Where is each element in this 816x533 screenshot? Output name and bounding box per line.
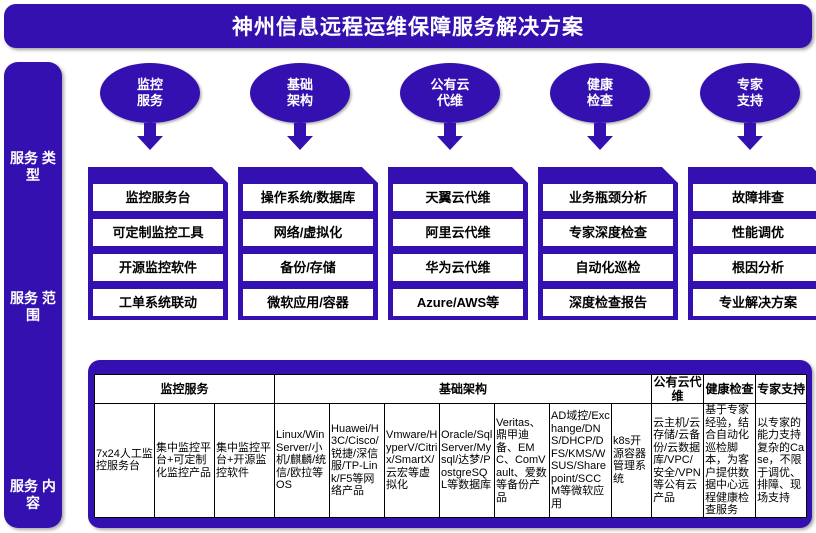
sidebar-item-service-scope: 服务 范围 bbox=[4, 290, 62, 324]
table-cell: 以专家的能力支持复杂的Case，不限于调优、排障、现场支持 bbox=[756, 404, 807, 518]
table-cell: Linux/WinServer/小机/麒麟/统信/欧拉等OS bbox=[275, 404, 330, 518]
arrow-down-icon bbox=[287, 123, 313, 151]
folded-corner-icon bbox=[362, 167, 378, 183]
scope-card-infrastructure: 操作系统/数据库 网络/虚拟化 备份/存储 微软应用/容器 bbox=[238, 167, 378, 320]
sidebar-rail: 服务 类型 服务 范围 服务 内容 bbox=[4, 62, 62, 528]
scope-card-health-check: 业务瓶颈分析 专家深度检查 自动化巡检 深度检查报告 bbox=[538, 167, 678, 320]
table-cell: Veritas、鼎甲迪备、EMC、ComVault、爱数等备份产品 bbox=[495, 404, 550, 518]
service-type-label: 公有云 代维 bbox=[430, 77, 469, 109]
table-header-monitoring: 监控服务 bbox=[95, 375, 275, 404]
scope-card-expert-support: 故障排查 性能调优 根因分析 专业解决方案 bbox=[688, 167, 816, 320]
scope-item[interactable]: 微软应用/容器 bbox=[243, 289, 373, 316]
table-cell: 云主机/云存储/云备份/云数据库/VPC/安全/VPN等公有云产品 bbox=[652, 404, 704, 518]
table-cell: k8s开源容器管理系统 bbox=[612, 404, 652, 518]
arrow-down-icon bbox=[437, 123, 463, 151]
service-type-node-infrastructure[interactable]: 基础 架构 bbox=[250, 63, 350, 123]
scope-item[interactable]: 故障排查 bbox=[693, 184, 816, 211]
scope-item[interactable]: 网络/虚拟化 bbox=[243, 219, 373, 246]
scope-item[interactable]: 性能调优 bbox=[693, 219, 816, 246]
scope-item[interactable]: 天翼云代维 bbox=[393, 184, 523, 211]
page-title-banner: 神州信息远程运维保障服务解决方案 bbox=[4, 4, 812, 48]
arrow-down-icon bbox=[587, 123, 613, 151]
sidebar-item-service-type: 服务 类型 bbox=[4, 150, 62, 184]
service-scope-row: 监控服务台 可定制监控工具 开源监控软件 工单系统联动 操作系统/数据库 网络/… bbox=[88, 167, 812, 322]
service-type-row: 监控 服务 基础 架构 公有云 代维 健康 检查 专家 支持 bbox=[88, 63, 812, 135]
scope-item[interactable]: 华为云代维 bbox=[393, 254, 523, 281]
folded-corner-icon bbox=[812, 167, 816, 183]
arrow-down-icon bbox=[137, 123, 163, 151]
table-cell: Huawei/H3C/Cisco/锐捷/深信服/TP-Link/F5等网络产品 bbox=[330, 404, 385, 518]
service-type-label: 监控 服务 bbox=[137, 77, 163, 109]
scope-item[interactable]: 专家深度检查 bbox=[543, 219, 673, 246]
service-content-panel: 监控服务 基础架构 公有云代维 健康检查 专家支持 7x24人工监控服务台 集中… bbox=[88, 360, 812, 528]
table-header-infrastructure: 基础架构 bbox=[275, 375, 652, 404]
scope-item[interactable]: 专业解决方案 bbox=[693, 289, 816, 316]
table-cell: 集中监控平台+开源监控软件 bbox=[215, 404, 275, 518]
scope-item[interactable]: Azure/AWS等 bbox=[393, 289, 523, 316]
service-type-label: 基础 架构 bbox=[287, 77, 313, 109]
service-type-label: 健康 检查 bbox=[587, 77, 613, 109]
scope-item[interactable]: 自动化巡检 bbox=[543, 254, 673, 281]
service-type-label: 专家 支持 bbox=[737, 77, 763, 109]
service-type-node-expert-support[interactable]: 专家 支持 bbox=[700, 63, 800, 123]
table-cell: 7x24人工监控服务台 bbox=[95, 404, 155, 518]
scope-item[interactable]: 业务瓶颈分析 bbox=[543, 184, 673, 211]
scope-item[interactable]: 开源监控软件 bbox=[93, 254, 223, 281]
scope-item[interactable]: 工单系统联动 bbox=[93, 289, 223, 316]
table-header-health-check: 健康检查 bbox=[704, 375, 756, 404]
table-cell: Oracle/SqlServer/Mysql/达梦/PostgreSQL等数据库 bbox=[440, 404, 495, 518]
scope-item[interactable]: 根因分析 bbox=[693, 254, 816, 281]
service-type-node-monitoring[interactable]: 监控 服务 bbox=[100, 63, 200, 123]
scope-card-monitoring: 监控服务台 可定制监控工具 开源监控软件 工单系统联动 bbox=[88, 167, 228, 320]
folded-corner-icon bbox=[212, 167, 228, 183]
scope-item[interactable]: 深度检查报告 bbox=[543, 289, 673, 316]
sidebar-item-service-content: 服务 内容 bbox=[4, 478, 62, 512]
table-cell: 基于专家经验，结合自动化巡检脚本，为客户提供数据中心远程健康检查服务 bbox=[704, 404, 756, 518]
page-title: 神州信息远程运维保障服务解决方案 bbox=[232, 11, 584, 41]
scope-item[interactable]: 阿里云代维 bbox=[393, 219, 523, 246]
arrow-down-icon bbox=[737, 123, 763, 151]
service-type-node-health-check[interactable]: 健康 检查 bbox=[550, 63, 650, 123]
folded-corner-icon bbox=[662, 167, 678, 183]
table-cell: AD域控/Exchange/DNS/DHCP/DFS/KMS/WSUS/Shar… bbox=[550, 404, 612, 518]
scope-item[interactable]: 备份/存储 bbox=[243, 254, 373, 281]
table-row: 7x24人工监控服务台 集中监控平台+可定制化监控产品 集中监控平台+开源监控软… bbox=[95, 404, 807, 518]
scope-item[interactable]: 可定制监控工具 bbox=[93, 219, 223, 246]
table-header-expert-support: 专家支持 bbox=[756, 375, 807, 404]
table-cell: 集中监控平台+可定制化监控产品 bbox=[155, 404, 215, 518]
service-content-table: 监控服务 基础架构 公有云代维 健康检查 专家支持 7x24人工监控服务台 集中… bbox=[94, 374, 807, 518]
service-type-node-public-cloud[interactable]: 公有云 代维 bbox=[400, 63, 500, 123]
table-header-row: 监控服务 基础架构 公有云代维 健康检查 专家支持 bbox=[95, 375, 807, 404]
table-cell: Vmware/HyperV/Citrix/SmartX/云宏等虚拟化 bbox=[385, 404, 440, 518]
table-header-public-cloud: 公有云代维 bbox=[652, 375, 704, 404]
scope-item[interactable]: 操作系统/数据库 bbox=[243, 184, 373, 211]
scope-item[interactable]: 监控服务台 bbox=[93, 184, 223, 211]
scope-card-public-cloud: 天翼云代维 阿里云代维 华为云代维 Azure/AWS等 bbox=[388, 167, 528, 320]
folded-corner-icon bbox=[512, 167, 528, 183]
